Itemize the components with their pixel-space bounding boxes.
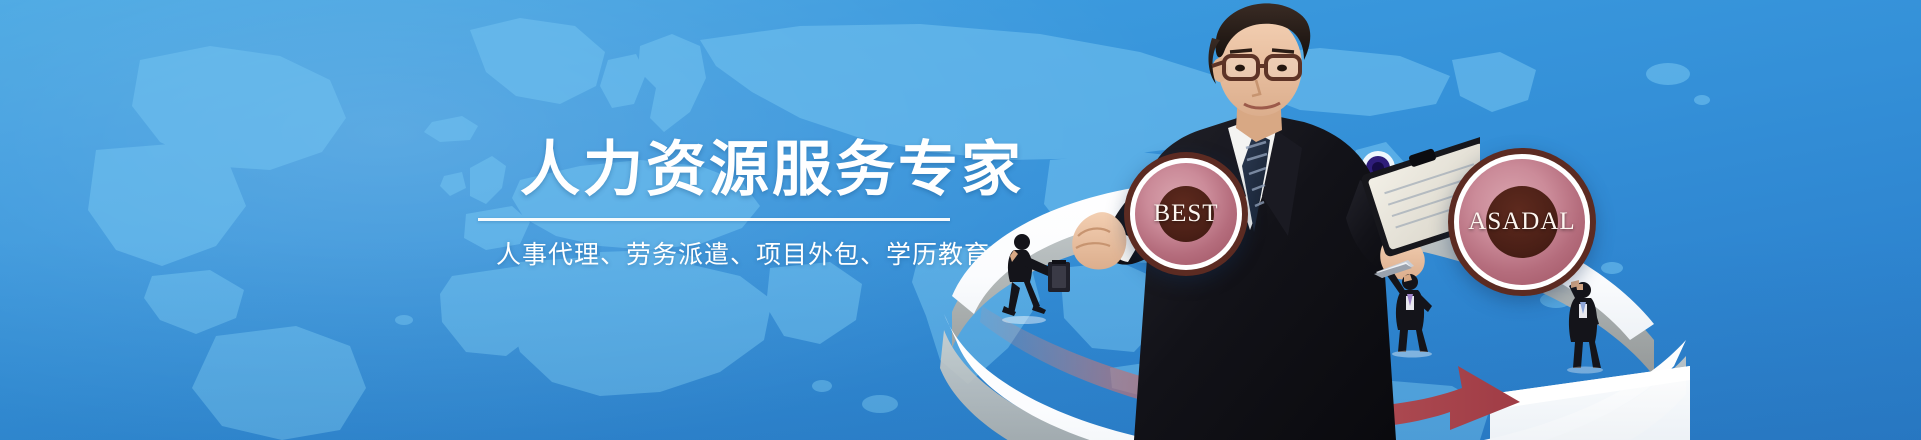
asadal-badge-label: ASADAL — [1468, 208, 1575, 236]
headline-divider — [478, 218, 950, 221]
asadal-badge: ASADAL — [1448, 148, 1596, 296]
best-badge-label: BEST — [1153, 200, 1218, 228]
banner-text-block: 人力资源服务专家 人事代理、劳务派遣、项目外包、学历教育 — [478, 140, 998, 271]
banner-subtitle: 人事代理、劳务派遣、项目外包、学历教育 — [496, 235, 998, 271]
banner-headline: 人力资源服务专家 — [520, 140, 998, 200]
promo-banner: 人力资源服务专家 人事代理、劳务派遣、项目外包、学历教育 — [0, 0, 1921, 440]
best-badge: BEST — [1124, 152, 1248, 276]
